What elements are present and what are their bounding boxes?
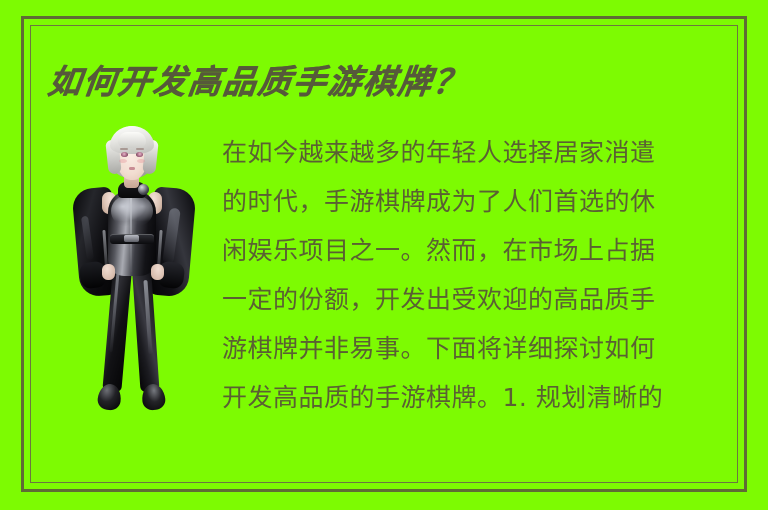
body-text-line: 闲娱乐项目之一。然而，在市场上占据 (222, 226, 738, 275)
left-eyebrow (120, 148, 128, 150)
poster-canvas: 如何开发高品质手游棋牌？ (0, 0, 768, 510)
body-text-block: 在如今越来越多的年轻人选择居家消遣 的时代，手游棋牌成为了人们首选的休 闲娱乐项… (222, 128, 738, 422)
right-eye (136, 152, 143, 157)
mouth (129, 167, 135, 170)
body-text-line: 游棋牌并非易事。下面将详细探讨如何 (222, 324, 738, 373)
bodysuit-bust-highlight (111, 196, 153, 226)
right-high-heel-shoe (141, 383, 167, 411)
body-text-line: 开发高品质的手游棋牌。1. 规划清晰的 (222, 373, 738, 422)
right-hand (151, 264, 164, 280)
left-cheek-blush (119, 159, 127, 163)
body-text-line: 一定的份额，开发出受欢迎的高品质手 (222, 275, 738, 324)
page-title: 如何开发高品质手游棋牌？ (45, 61, 470, 103)
body-text-line: 在如今越来越多的年轻人选择居家消遣 (222, 128, 738, 177)
left-hand (102, 264, 115, 280)
right-eyebrow (136, 148, 144, 150)
hair-bangs (118, 132, 146, 148)
belt-buckle (124, 235, 139, 242)
right-cheek-blush (137, 159, 145, 163)
left-eye (121, 152, 128, 157)
anime-girl-character-illustration (58, 112, 208, 424)
body-text-line: 的时代，手游棋牌成为了人们首选的休 (222, 177, 738, 226)
collar-stud (138, 184, 149, 195)
bodysuit-zipper-seam (130, 194, 132, 272)
